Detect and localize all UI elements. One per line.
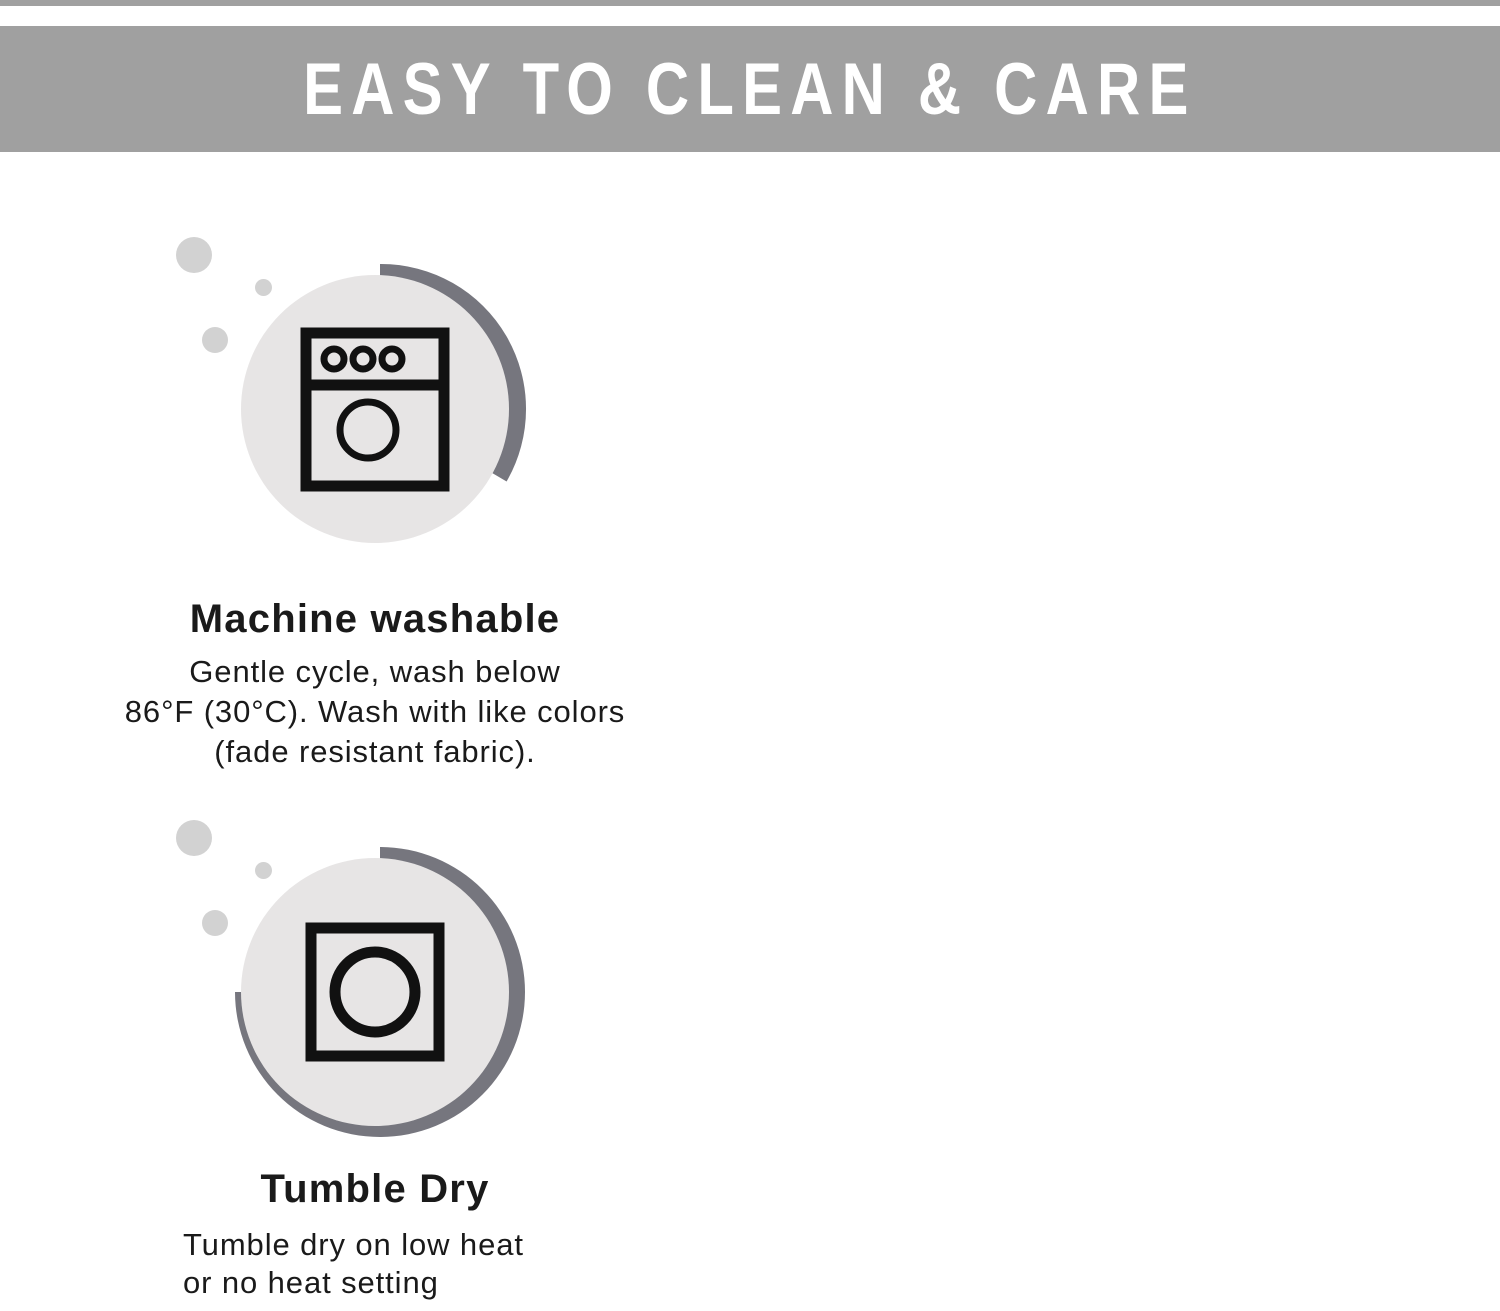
header-banner: EASY TO CLEAN & CARE <box>0 26 1500 152</box>
top-divider-rule <box>0 0 1500 6</box>
panel-body-text: Gentle cycle, wash below 86°F (30°C). Wa… <box>0 652 750 773</box>
tumble-dry-square-icon <box>241 858 509 1126</box>
care-panel-machine-washable: Machine washable Gentle cycle, wash belo… <box>0 152 750 812</box>
bubble-large-icon <box>176 237 212 273</box>
panel-title: Tumble Dry <box>0 1167 750 1212</box>
caption-machine-washable: Machine washable Gentle cycle, wash belo… <box>0 597 750 773</box>
panel-body-text: Tumble dry on low heat or no heat settin… <box>0 1226 750 1302</box>
care-panel-iron: Iron <box>750 812 1500 1311</box>
page-title: EASY TO CLEAN & CARE <box>303 53 1197 126</box>
panel-title: Machine washable <box>0 597 750 642</box>
care-instructions-page: EASY TO CLEAN & CARE <box>0 0 1500 1311</box>
care-panel-do-not-bleach: Do not Bleach Use non-bleaching detergen… <box>750 152 1500 812</box>
badge-tumble-dry <box>165 815 505 1145</box>
bubble-large-icon <box>176 820 212 856</box>
badge-machine-washable <box>165 232 505 562</box>
washing-machine-icon <box>241 275 509 543</box>
care-panel-tumble-dry: Tumble Dry Tumble dry on low heat or no … <box>0 812 750 1311</box>
caption-tumble-dry: Tumble Dry Tumble dry on low heat or no … <box>0 1167 750 1301</box>
